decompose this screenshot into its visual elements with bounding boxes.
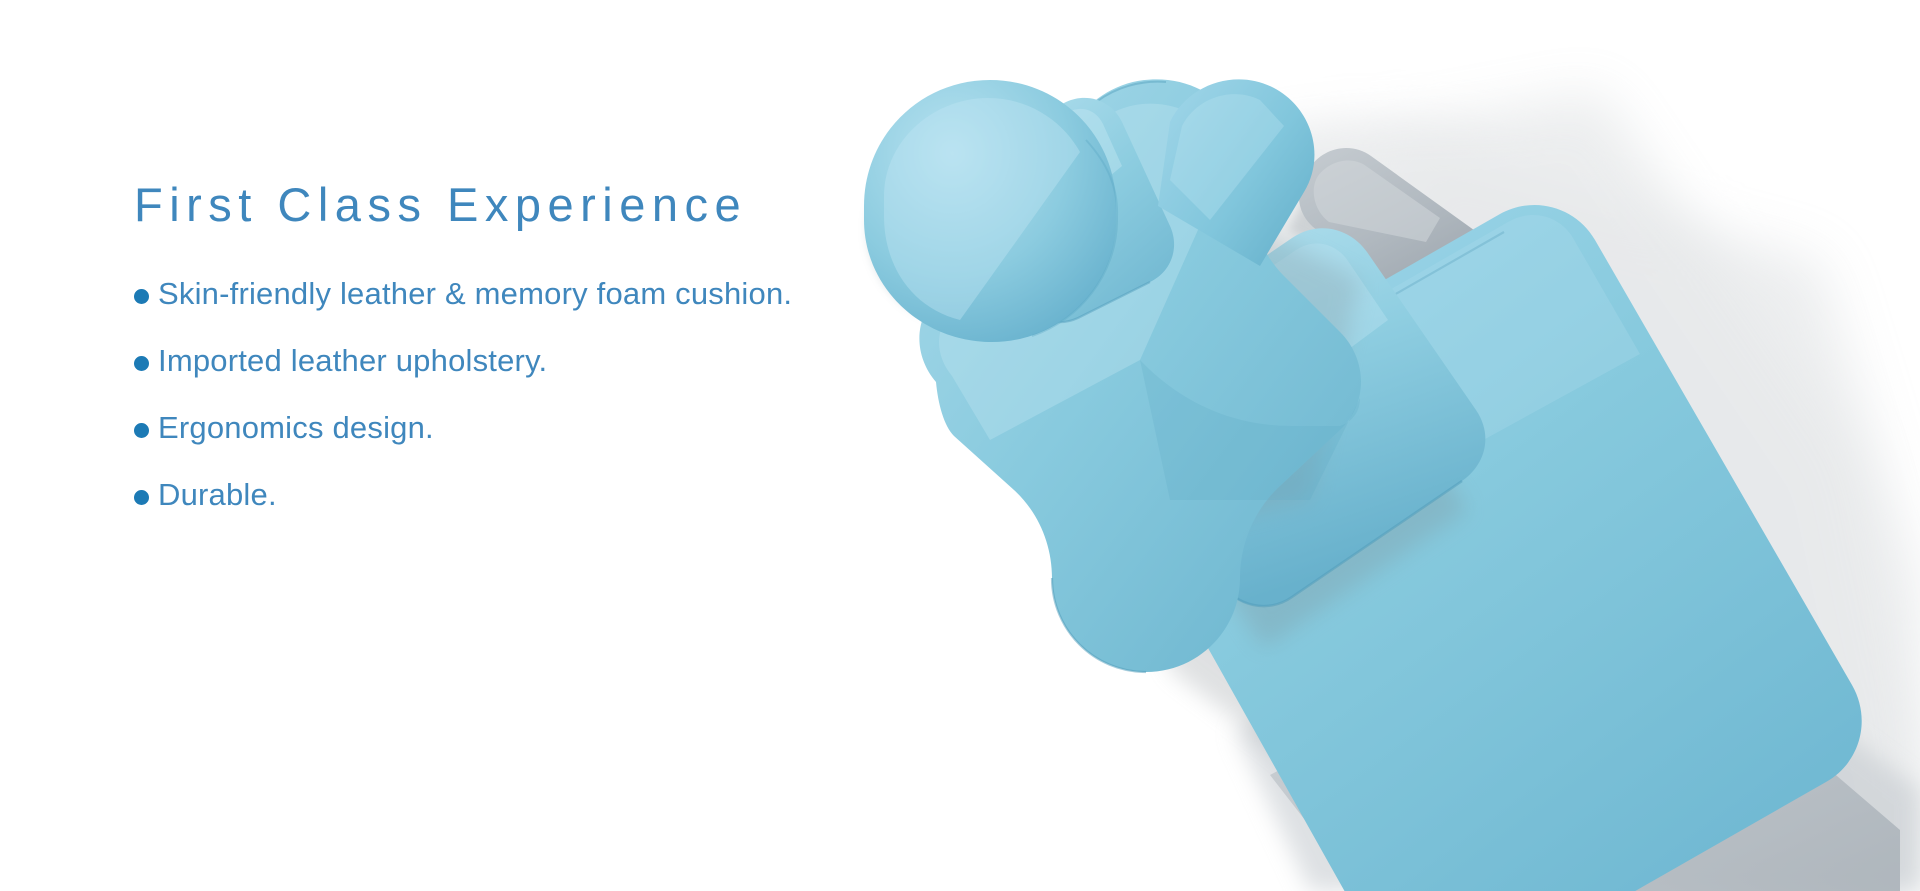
page-title: First Class Experience (134, 178, 934, 232)
product-image-dental-chair (840, 30, 1920, 891)
list-item: Imported leather upholstery. (134, 345, 934, 376)
text-panel: First Class Experience Skin-friendly lea… (134, 178, 934, 510)
bullet-dot-icon (134, 356, 149, 371)
list-item-label: Imported leather upholstery. (158, 345, 547, 376)
list-item: Durable. (134, 479, 934, 510)
bullet-dot-icon (134, 289, 149, 304)
bullet-dot-icon (134, 490, 149, 505)
banner-slide: First Class Experience Skin-friendly lea… (0, 0, 1920, 891)
list-item: Skin-friendly leather & memory foam cush… (134, 278, 934, 309)
list-item: Ergonomics design. (134, 412, 934, 443)
bullet-dot-icon (134, 423, 149, 438)
list-item-label: Skin-friendly leather & memory foam cush… (158, 278, 792, 309)
list-item-label: Ergonomics design. (158, 412, 434, 443)
list-item-label: Durable. (158, 479, 277, 510)
feature-list: Skin-friendly leather & memory foam cush… (134, 278, 934, 510)
